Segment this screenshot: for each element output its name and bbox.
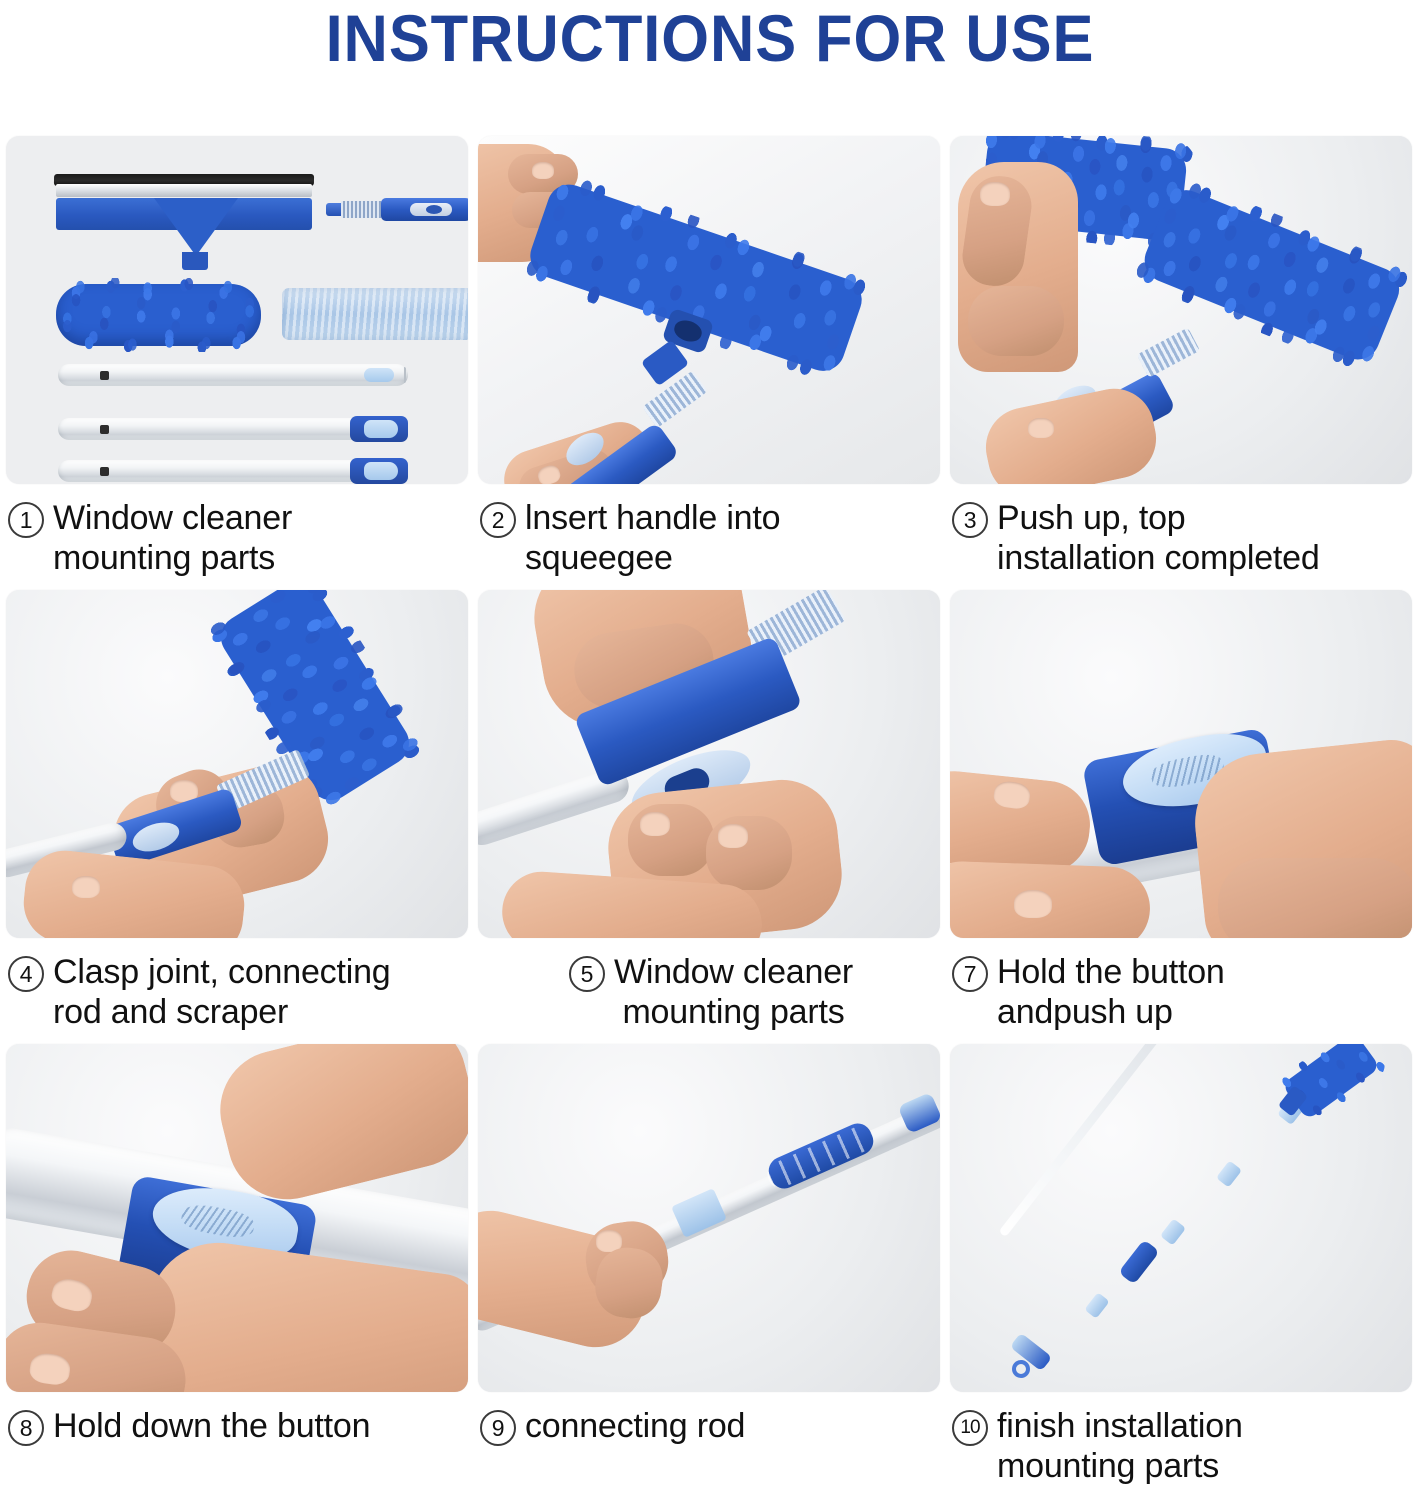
step-caption-2: 2 lnsert handle into squeegee [478,484,944,590]
step-text-9: connecting rod [525,1406,942,1446]
step-card-1: 1 Window cleaner mounting parts [6,136,472,590]
handle-part [326,196,468,222]
step-photo-3 [950,136,1412,484]
step-caption-4: 4 Clasp joint, connecting rod and scrape… [6,938,472,1044]
squeegee-chrome-strip [56,184,312,197]
step-caption-5: 5 Window cleaner mounting parts [478,938,944,1044]
step-photo-8 [6,1044,468,1392]
step-caption-8: 8 Hold down the button [6,1392,472,1498]
step-text-2: lnsert handle into squeegee [525,498,942,578]
instruction-sheet: INSTRUCTIONS FOR USE [0,0,1420,1500]
step-number-7: 7 [952,956,988,992]
chenille-pad-part [56,284,261,346]
steps-grid: 1 Window cleaner mounting parts [6,136,1416,1498]
step-text-5: Window cleaner mounting parts [614,952,853,1032]
pole-section-1 [58,364,408,386]
step-text-1: Window cleaner mounting parts [53,498,470,578]
step-card-2: 2 lnsert handle into squeegee [478,136,944,590]
step-card-8: 8 Hold down the button [6,1044,472,1498]
step-photo-5 [478,590,940,938]
step-card-9: 9 connecting rod [478,1044,944,1498]
step-number-1: 1 [8,502,44,538]
step-card-7: 7 Hold the button andpush up [950,590,1416,1044]
step-number-9: 9 [480,1410,516,1446]
step-number-10: 10 [952,1410,988,1446]
step-number-2: 2 [480,502,516,538]
step-caption-3: 3 Push up, top installation completed [950,484,1416,590]
step-text-3: Push up, top installation completed [997,498,1414,578]
step-caption-9: 9 connecting rod [478,1392,944,1498]
step-number-4: 4 [8,956,44,992]
step-text-7: Hold the button andpush up [997,952,1414,1032]
squeegee-bracket [154,198,238,256]
step-text-10: finish installation mounting parts [997,1406,1414,1486]
hanging-loop [1012,1360,1030,1378]
step-caption-1: 1 Window cleaner mounting parts [6,484,472,590]
step-photo-1 [6,136,468,484]
step-photo-4 [6,590,468,938]
step-caption-7: 7 Hold the button andpush up [950,938,1416,1044]
microfiber-cloth-part [282,288,468,340]
page-title: INSTRUCTIONS FOR USE [50,0,1371,74]
squeegee-neck [182,252,208,270]
step-photo-10 [950,1044,1412,1392]
step-photo-9 [478,1044,940,1392]
step-card-10: 10 finish installation mounting parts [950,1044,1416,1498]
step-card-5: 5 Window cleaner mounting parts [478,590,944,1044]
step-number-3: 3 [952,502,988,538]
step-card-3: 3 Push up, top installation completed [950,136,1416,590]
step-caption-10: 10 finish installation mounting parts [950,1392,1416,1498]
step-photo-2 [478,136,940,484]
step-text-8: Hold down the button [53,1406,470,1446]
step-card-4: 4 Clasp joint, connecting rod and scrape… [6,590,472,1044]
step-photo-7 [950,590,1412,938]
step-number-8: 8 [8,1410,44,1446]
step-text-4: Clasp joint, connecting rod and scraper [53,952,470,1032]
pole-section-3 [58,460,408,482]
pole-section-2 [58,418,408,440]
step-number-5: 5 [569,956,605,992]
